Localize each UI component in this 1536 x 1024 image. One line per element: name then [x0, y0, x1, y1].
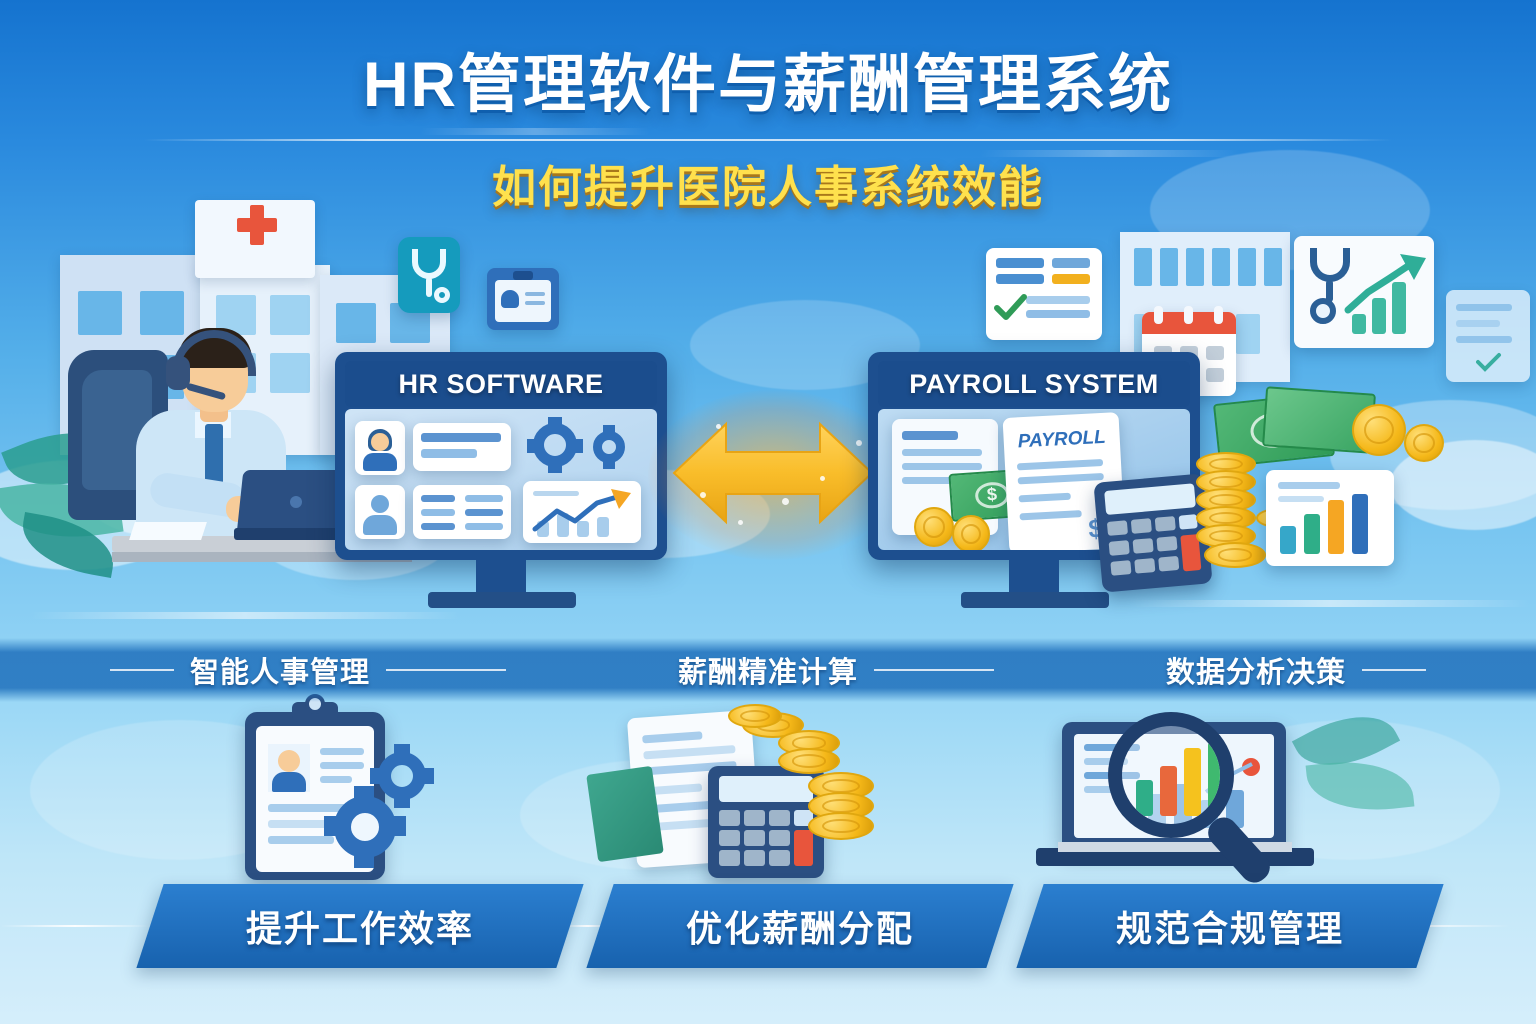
- cloud-streak: [30, 612, 460, 619]
- checklist-check-icon: [986, 248, 1102, 340]
- bottom-banner-label: 提升工作效率: [246, 900, 474, 952]
- coin-stack-icon: [914, 507, 954, 547]
- mid-band-item-2: 薪酬精准计算: [678, 649, 994, 691]
- id-badge-icon: [487, 268, 559, 330]
- monitor-hr-software: HR SOFTWARE: [335, 352, 667, 560]
- page-subtitle: 如何提升医院人事系统效能: [0, 151, 1536, 215]
- monitor-header: PAYROLL SYSTEM: [878, 361, 1190, 407]
- mid-band-item-3: 数据分析决策: [1166, 649, 1426, 691]
- growth-chart-icon: [1294, 236, 1434, 348]
- mid-band-item-1: 智能人事管理: [110, 649, 506, 691]
- title-divider: [143, 139, 1393, 141]
- monitor-base: [961, 592, 1109, 608]
- title-block: HR管理软件与薪酬管理系统 如何提升医院人事系统效能: [0, 34, 1536, 215]
- infographic-canvas: HR管理软件与薪酬管理系统 如何提升医院人事系统效能: [0, 0, 1536, 1024]
- employee-detail-card: [413, 423, 511, 471]
- bottom-banner-3: 规范合规管理: [1016, 884, 1443, 968]
- employee-avatar-card: [355, 485, 405, 539]
- mid-band: 智能人事管理 薪酬精准计算 数据分析决策: [0, 638, 1536, 702]
- document-card: [1446, 290, 1530, 382]
- monitor-neck: [1009, 560, 1059, 594]
- bottom-banner-2: 优化薪酬分配: [586, 884, 1013, 968]
- calculator-icon: [708, 766, 824, 878]
- monitor-screen: [345, 409, 657, 550]
- calculator-icon: [1093, 473, 1212, 592]
- mid-band-label: 数据分析决策: [1166, 649, 1346, 691]
- monitor-neck: [476, 560, 526, 594]
- monitor-base: [428, 592, 576, 608]
- stethoscope-icon: [398, 237, 460, 313]
- monitor-title: HR SOFTWARE: [399, 369, 604, 400]
- bottom-banner-1: 提升工作效率: [136, 884, 583, 968]
- divider-line: [110, 669, 174, 671]
- folder-icon: [586, 766, 664, 862]
- cloud-streak: [1130, 600, 1530, 607]
- bottom-banner-row: 提升工作效率 优化薪酬分配 规范合规管理: [0, 884, 1536, 968]
- employee-avatar-card: [355, 421, 405, 475]
- bidirectional-arrow-icon: [668, 408, 878, 538]
- payroll-heading: PAYROLL: [1017, 427, 1106, 454]
- divider-line: [874, 669, 994, 671]
- growth-chart-icon: [523, 481, 641, 543]
- coin-stack-icon: [952, 515, 990, 550]
- bottom-banner-label: 规范合规管理: [1116, 900, 1344, 952]
- mid-band-label: 智能人事管理: [190, 649, 370, 691]
- page-title: HR管理软件与薪酬管理系统: [0, 34, 1536, 125]
- divider-line: [386, 669, 506, 671]
- monitor-title: PAYROLL SYSTEM: [909, 369, 1159, 400]
- mid-band-label: 薪酬精准计算: [678, 649, 858, 691]
- monitor-header: HR SOFTWARE: [345, 361, 657, 407]
- bar-chart-icon: [1266, 470, 1394, 566]
- bottom-banner-label: 优化薪酬分配: [686, 900, 914, 952]
- employee-detail-card: [413, 485, 511, 539]
- divider-line: [1362, 669, 1426, 671]
